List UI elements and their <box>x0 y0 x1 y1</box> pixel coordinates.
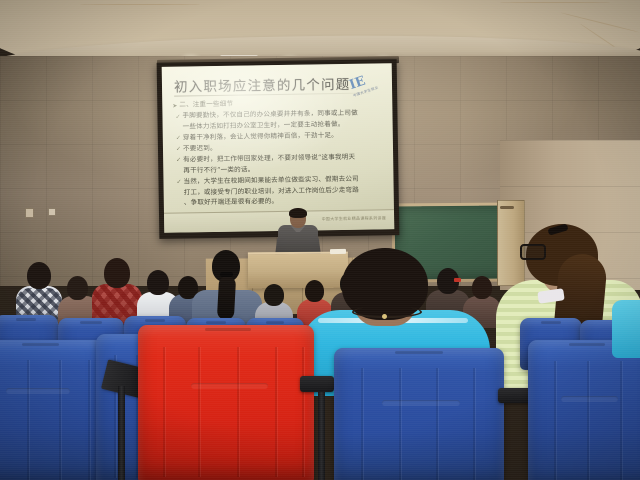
folding-tablet-arm[interactable] <box>300 376 334 392</box>
seat-blue[interactable] <box>528 340 640 480</box>
lecture-hall-scene: 初入职场应注意的几个问题 IE 中国大学生就业 ➤ 二、注重一些细节 ✓ 手脚要… <box>0 0 640 480</box>
seat-support-post <box>318 392 325 480</box>
seat-rows <box>0 0 640 480</box>
seat-blue[interactable] <box>0 340 104 480</box>
seat-red[interactable] <box>138 325 314 480</box>
seat-blue[interactable] <box>334 348 504 480</box>
seat-support-post <box>118 386 125 480</box>
audience-sleeve <box>612 300 640 358</box>
